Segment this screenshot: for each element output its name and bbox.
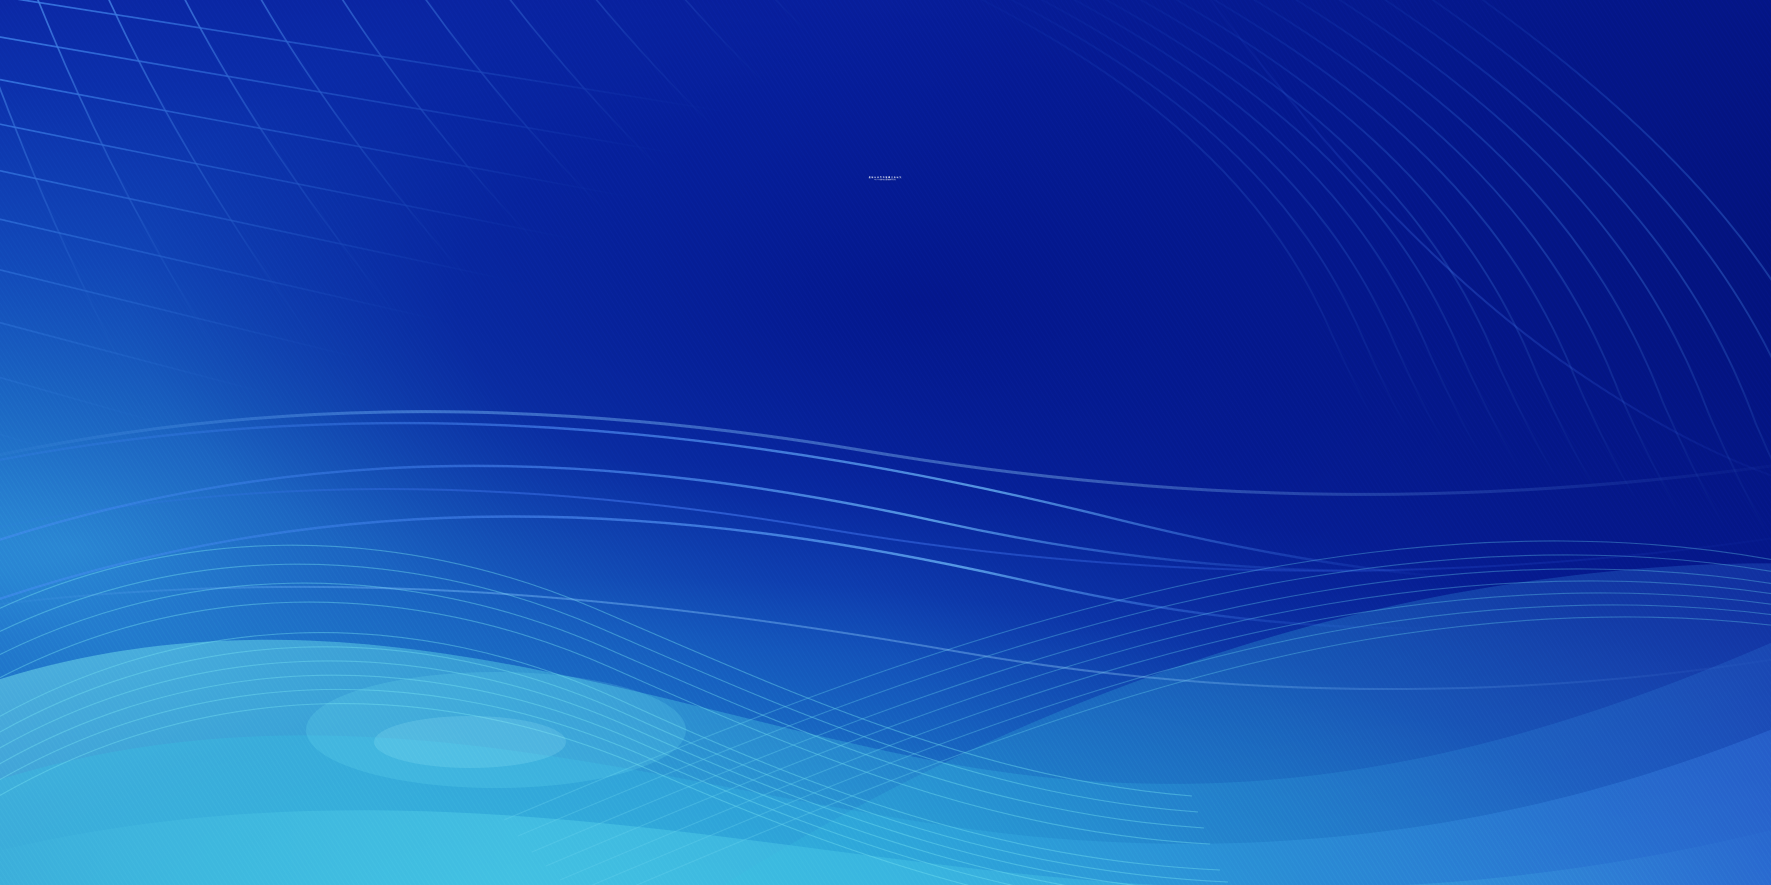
background-right-deep-blue xyxy=(0,0,1771,885)
background-base-gradient xyxy=(0,0,1771,885)
mid-light-streak-decoration xyxy=(0,0,1771,885)
background-bottom-cyan-wash xyxy=(0,0,1771,885)
poster-canvas: 最新公众号托管爆文库玩法 纯小白福利只需复制粘贴 手机电脑都可做 xyxy=(0,0,1771,885)
bottom-mesh-wave-decoration xyxy=(0,0,1771,885)
wave-ribbon-1 xyxy=(0,612,1771,885)
headline-block: 最新公众号托管爆文库玩法 纯小白福利只需复制粘贴 手机电脑都可做 xyxy=(0,178,1771,182)
cyan-glow-core xyxy=(374,716,566,768)
mesh-fan-right xyxy=(504,541,1771,885)
top-right-flow-lines-decoration xyxy=(0,0,1771,885)
wave-ribbon-2 xyxy=(0,700,1771,885)
highlight-arcs xyxy=(0,423,1771,628)
headline-line-3: 手机电脑都可做 xyxy=(0,181,1771,182)
background-diagonal-hatch-texture xyxy=(0,0,1771,885)
cyan-glow-knot xyxy=(306,672,686,788)
top-left-grid-mesh-decoration xyxy=(0,0,1771,885)
wave-ribbon-4 xyxy=(700,563,1771,885)
background-center-darkening xyxy=(0,0,1771,885)
mesh-fan-left xyxy=(0,545,1260,885)
wave-ribbon-3 xyxy=(0,810,1771,885)
